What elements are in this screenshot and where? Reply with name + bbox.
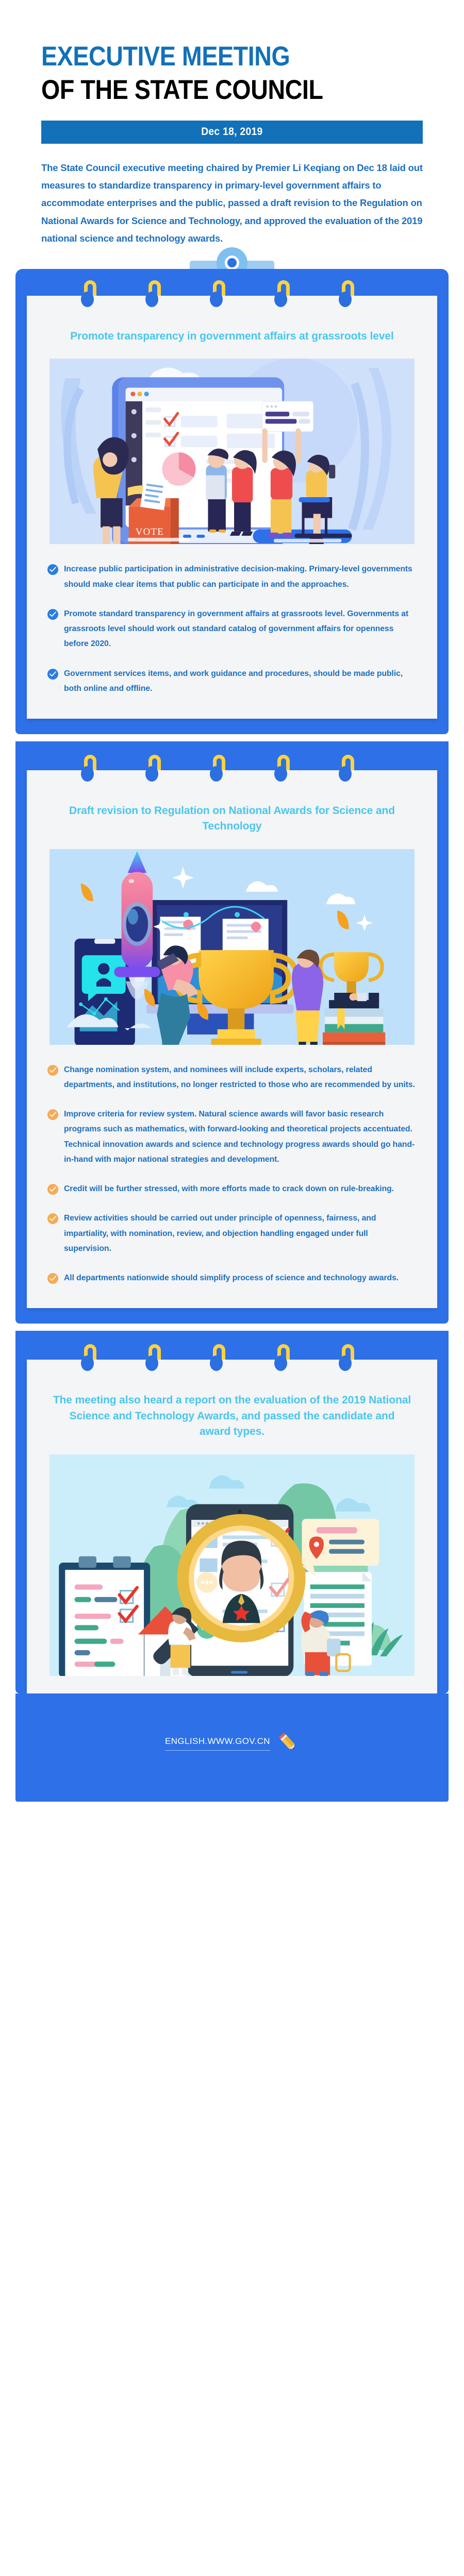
spiral-ring-icon xyxy=(210,755,227,785)
notepad-board-2: Draft revision to Regulation on National… xyxy=(15,741,449,1324)
page-title-line-2: OF THE STATE COUNCIL xyxy=(41,75,377,106)
check-circle-icon xyxy=(47,1273,58,1284)
spiral-ring-icon xyxy=(339,1344,356,1374)
section-title-3: The meeting also heard a report on the e… xyxy=(44,1393,420,1439)
section-divider xyxy=(0,1324,464,1331)
page-title-line-1: EXECUTIVE MEETING xyxy=(41,41,377,73)
section-title-2: Draft revision to Regulation on National… xyxy=(44,803,420,835)
spiral-ring-icon xyxy=(210,1344,227,1374)
check-circle-icon xyxy=(47,1109,58,1120)
check-circle-icon xyxy=(47,669,58,680)
bullet-item: Improve criteria for review system. Natu… xyxy=(47,1107,417,1167)
bullet-text: Review activities should be carried out … xyxy=(64,1211,417,1256)
spiral-ring-icon xyxy=(145,1344,163,1374)
section-divider xyxy=(0,734,464,741)
illustration-online-voting: VOTE xyxy=(49,359,415,544)
spiral-ring-icon xyxy=(81,280,98,310)
section-card-2: Draft revision to Regulation on National… xyxy=(0,741,464,1324)
illustration-rocket-trophy xyxy=(49,849,415,1045)
bullet-item: Increase public participation in adminis… xyxy=(47,562,417,591)
section-title-1: Promote transparency in government affai… xyxy=(44,329,420,344)
check-circle-icon xyxy=(47,609,58,620)
bullet-item: Change nomination system, and nominees w… xyxy=(47,1062,417,1092)
section-card-1: Promote transparency in government affai… xyxy=(0,247,464,734)
page-header: EXECUTIVE MEETING OF THE STATE COUNCIL D… xyxy=(0,0,464,144)
check-circle-icon xyxy=(47,1065,58,1076)
spiral-rings-1 xyxy=(27,280,437,311)
bullet-text: Credit will be further stressed, with mo… xyxy=(64,1181,394,1196)
bullet-text: All departments nationwide should simpli… xyxy=(64,1270,399,1285)
notepad-paper-1: Promote transparency in government affai… xyxy=(27,296,437,719)
bullet-text: Improve criteria for review system. Natu… xyxy=(64,1107,417,1167)
svg-text:VOTE: VOTE xyxy=(136,527,164,537)
check-circle-icon xyxy=(47,1213,58,1224)
bullet-text: Promote standard transparency in governm… xyxy=(64,606,417,652)
bullet-text: Government services items, and work guid… xyxy=(64,666,417,696)
spiral-ring-icon xyxy=(339,280,356,310)
spiral-ring-icon xyxy=(274,1344,292,1374)
spiral-ring-icon xyxy=(274,280,292,310)
check-circle-icon xyxy=(47,1184,58,1195)
spiral-ring-icon xyxy=(81,1344,98,1374)
spiral-ring-icon xyxy=(210,280,227,310)
spiral-ring-icon xyxy=(339,755,356,785)
bullet-item: All departments nationwide should simpli… xyxy=(47,1270,417,1285)
illustration-candidate-review xyxy=(49,1454,415,1676)
notepad-paper-3: The meeting also heard a report on the e… xyxy=(27,1360,437,1693)
meeting-date-bar: Dec 18, 2019 xyxy=(41,121,423,144)
bullet-item: Promote standard transparency in governm… xyxy=(47,606,417,652)
meeting-date: Dec 18, 2019 xyxy=(201,126,262,138)
spiral-rings-3 xyxy=(27,1344,437,1375)
bullet-item: Review activities should be carried out … xyxy=(47,1211,417,1256)
spiral-ring-icon xyxy=(274,755,292,785)
section-1-bullets: Increase public participation in adminis… xyxy=(47,562,417,696)
spiral-ring-icon xyxy=(145,280,163,310)
bullet-item: Government services items, and work guid… xyxy=(47,666,417,696)
clip-hole-inner xyxy=(227,258,237,267)
section-card-3: The meeting also heard a report on the e… xyxy=(0,1331,464,1693)
bullet-item: Credit will be further stressed, with mo… xyxy=(47,1181,417,1196)
clipboard-clip xyxy=(0,247,464,269)
section-2-bullets: Change nomination system, and nominees w… xyxy=(47,1062,417,1285)
spiral-ring-icon xyxy=(145,755,163,785)
footer-url[interactable]: ENGLISH.WWW.GOV.CN xyxy=(165,1736,270,1751)
intro-paragraph: The State Council executive meeting chai… xyxy=(41,159,423,247)
spiral-ring-icon xyxy=(81,755,98,785)
page-footer: ENGLISH.WWW.GOV.CN xyxy=(15,1693,449,1802)
bullet-text: Change nomination system, and nominees w… xyxy=(64,1062,417,1092)
notepad-board-3: The meeting also heard a report on the e… xyxy=(15,1331,449,1693)
pencil-icon xyxy=(276,1731,299,1753)
spiral-rings-2 xyxy=(27,755,437,786)
notepad-board-1: Promote transparency in government affai… xyxy=(15,269,449,734)
check-circle-icon xyxy=(47,564,58,575)
bullet-text: Increase public participation in adminis… xyxy=(64,562,417,591)
notepad-paper-2: Draft revision to Regulation on National… xyxy=(27,770,437,1308)
